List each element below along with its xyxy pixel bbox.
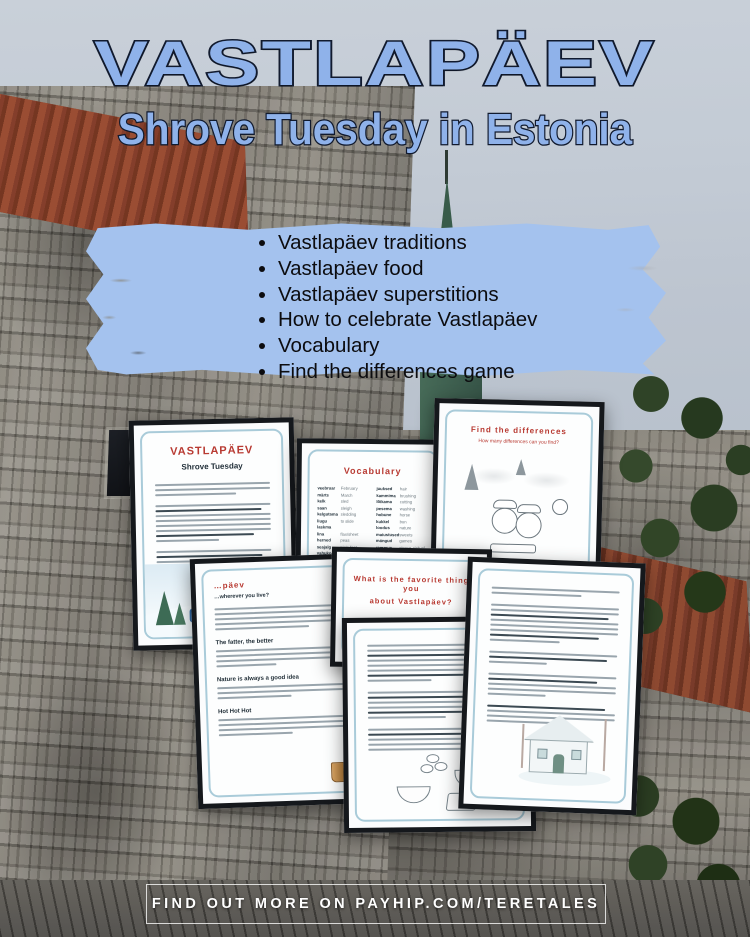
- contents-list: Vastlapäev traditions Vastlapäev food Va…: [262, 230, 662, 385]
- vocab-term: liugu laskma: [317, 518, 341, 531]
- worksheet-superstitions-body: [475, 570, 633, 727]
- list-item: Vastlapäev traditions: [278, 230, 662, 256]
- footer-text: FIND OUT MORE ON PAYHIP.COM/TERETALES: [152, 896, 600, 912]
- page-title: VASTLAPÄEV: [0, 34, 750, 94]
- footer-cta[interactable]: FIND OUT MORE ON PAYHIP.COM/TERETALES: [146, 884, 606, 924]
- page-subtitle: Shrove Tuesday in Estonia: [30, 108, 720, 152]
- vocab-translation: to slide: [340, 518, 368, 531]
- winter-house-illustration: [519, 706, 614, 787]
- list-item: Vastlapäev superstitions: [278, 282, 662, 308]
- worksheet-superstitions[interactable]: [458, 557, 646, 816]
- poster-title-block: VASTLAPÄEV Shrove Tuesday in Estonia: [0, 34, 750, 152]
- worksheet-find-differences-title: Find the differences: [447, 424, 591, 437]
- list-item: Find the differences game: [278, 359, 662, 385]
- snowman-sled-figures: [487, 503, 546, 555]
- worksheet-intro-subtitle: Shrove Tuesday: [143, 461, 282, 473]
- vocabulary-row: liugu laskmato slide: [317, 518, 368, 532]
- list-item: How to celebrate Vastlapäev: [278, 307, 662, 333]
- favorite-question-line1: What is the favorite thing you: [344, 574, 478, 594]
- poster-canvas: VASTLAPÄEV Shrove Tuesday in Estonia Vas…: [0, 0, 750, 937]
- worksheet-intro-title: VASTLAPÄEV: [142, 444, 281, 459]
- list-item: Vastlapäev food: [278, 256, 662, 282]
- list-item: Vocabulary: [278, 333, 662, 359]
